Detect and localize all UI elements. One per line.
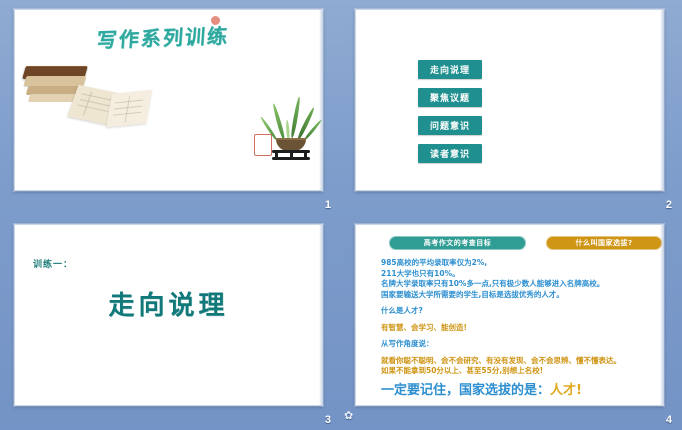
slide-4[interactable]: 高考作文的考查目标 什么叫国家选拔? 985高校的平均录取率仅为2%, 211大… <box>355 224 664 406</box>
slide-2[interactable]: 走向说理 聚焦议题 问题意识 读者意识 <box>355 9 664 191</box>
slide-cell-2[interactable]: 走向说理 聚焦议题 问题意识 读者意识 2 <box>341 0 682 215</box>
pill-national-selection[interactable]: 什么叫国家选拔? <box>546 236 662 250</box>
pill-exam-objective[interactable]: 高考作文的考查目标 <box>389 236 526 250</box>
stacked-old-books-photo <box>19 62 144 134</box>
conclusion-prefix: 一定要记住，国家选拔的是： <box>381 383 550 398</box>
slide-cell-3[interactable]: 训练一： 走向说理 3 <box>0 215 341 430</box>
slide-1-title: 写作系列训练 <box>96 20 230 54</box>
body-line-6: 有智慧、会学习、能创造! <box>381 323 646 334</box>
slide-number-1: 1 <box>325 199 331 211</box>
body-line-3: 名牌大学录取率只有10%多一点,只有极少数人能够进入名牌高校。 <box>381 279 646 290</box>
slide-4-body: 985高校的平均录取率仅为2%, 211大学也只有10%。 名牌大学录取率只有1… <box>381 258 646 400</box>
slide-thumbnail-grid: 写作系列训练 1 走向说理 <box>0 0 682 430</box>
slide-1[interactable]: 写作系列训练 <box>14 9 323 191</box>
conclusion-line: 一定要记住，国家选拔的是：人才! <box>381 382 646 400</box>
title-seal-dot-icon <box>211 16 220 25</box>
body-line-7: 从写作角度说： <box>381 339 646 350</box>
slide-3-title: 走向说理 <box>15 285 322 322</box>
menu-item-读者意识[interactable]: 读者意识 <box>418 144 482 163</box>
body-line-4: 国家要输送大学所需要的学生,目标是选拔优秀的人才。 <box>381 290 646 301</box>
red-seal-stamp-icon <box>254 134 272 156</box>
body-line-5: 什么是人才? <box>381 306 646 317</box>
orchid-in-pot-painting <box>262 98 323 170</box>
body-line-8: 就看你聪不聪明、会不会研究、有没有发现、会不会思辨、懂不懂表达。 <box>381 356 646 367</box>
body-line-2: 211大学也只有10%。 <box>381 269 646 280</box>
menu-item-走向说理[interactable]: 走向说理 <box>418 60 482 79</box>
slide-3[interactable]: 训练一： 走向说理 <box>14 224 323 406</box>
conclusion-highlight: 人才! <box>550 383 582 398</box>
menu-item-问题意识[interactable]: 问题意识 <box>418 116 482 135</box>
slide-number-2: 2 <box>666 199 672 211</box>
flower-star-icon: ✿ <box>344 411 353 422</box>
slide-cell-4[interactable]: 高考作文的考查目标 什么叫国家选拔? 985高校的平均录取率仅为2%, 211大… <box>341 215 682 430</box>
body-line-1: 985高校的平均录取率仅为2%, <box>381 258 646 269</box>
slide-cell-1[interactable]: 写作系列训练 1 <box>0 0 341 215</box>
slide-number-3: 3 <box>325 414 331 426</box>
slide-2-menu: 走向说理 聚焦议题 问题意识 读者意识 <box>418 60 482 163</box>
body-line-9: 如果不能拿到50分以上、甚至55分,别想上名校! <box>381 366 646 377</box>
menu-item-聚焦议题[interactable]: 聚焦议题 <box>418 88 482 107</box>
slide-number-4: 4 <box>666 414 672 426</box>
slide-3-label: 训练一： <box>33 257 73 270</box>
